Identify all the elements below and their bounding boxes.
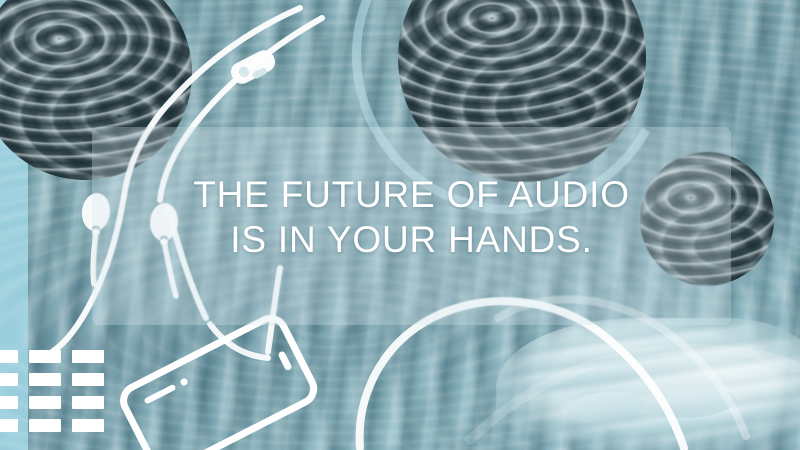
remote-button-icon bbox=[239, 67, 249, 77]
page-title: THE FUTURE OF AUDIO IS IN YOUR HANDS. bbox=[92, 172, 731, 262]
smartphone-home-button-icon bbox=[277, 350, 292, 371]
grid-bar bbox=[0, 350, 18, 363]
grid-bar bbox=[29, 350, 61, 363]
grid-bar bbox=[29, 373, 61, 386]
grid-bar bbox=[72, 350, 104, 363]
poster-canvas: THE FUTURE OF AUDIO IS IN YOUR HANDS. bbox=[0, 0, 800, 450]
grid-bar bbox=[72, 419, 104, 432]
grid-bar bbox=[72, 373, 104, 386]
inline-remote-icon bbox=[228, 47, 279, 87]
grid-bar bbox=[29, 396, 61, 409]
smartphone-camera-icon bbox=[179, 377, 189, 387]
grid-bar bbox=[0, 419, 18, 432]
bar-grid-graphic bbox=[0, 350, 104, 432]
smartphone-speaker-icon bbox=[143, 384, 176, 405]
headline-line-1: THE FUTURE OF AUDIO bbox=[92, 172, 731, 217]
grid-bar bbox=[29, 419, 61, 432]
headline-line-2: IS IN YOUR HANDS. bbox=[92, 217, 731, 262]
grid-bar bbox=[0, 396, 18, 409]
grid-bar bbox=[72, 396, 104, 409]
grid-bar bbox=[0, 373, 18, 386]
